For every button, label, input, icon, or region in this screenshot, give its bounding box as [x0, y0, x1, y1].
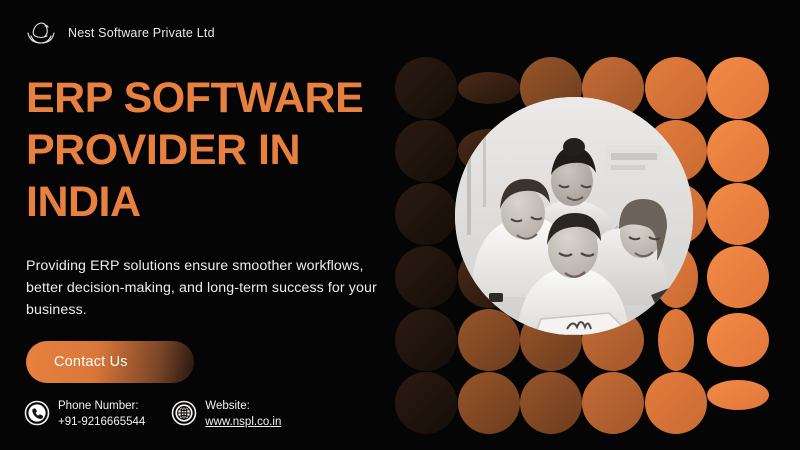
- website-text: Website: www.nspl.co.in: [205, 398, 281, 430]
- contact-footer: Phone Number: +91-9216665544 Website:: [24, 398, 281, 430]
- phone-icon: [24, 400, 50, 426]
- website-label: Website:: [205, 400, 250, 412]
- brand-logo[interactable]: Nest Software Private Ltd: [24, 19, 215, 47]
- nest-bird-logo-icon: [24, 19, 58, 47]
- phone-contact[interactable]: Phone Number: +91-9216665544: [24, 398, 145, 430]
- phone-text: Phone Number: +91-9216665544: [58, 398, 145, 430]
- phone-value: +91-9216665544: [58, 414, 145, 430]
- page-title: ERP Software Provider in India: [26, 72, 426, 228]
- website-contact[interactable]: Website: www.nspl.co.in: [171, 398, 281, 430]
- website-value[interactable]: www.nspl.co.in: [205, 414, 281, 430]
- contact-us-button[interactable]: Contact Us: [26, 341, 194, 383]
- brand-name: Nest Software Private Ltd: [68, 26, 215, 40]
- team-photo: [455, 97, 693, 335]
- globe-icon: [171, 400, 197, 426]
- hero-description: Providing ERP solutions ensure smoother …: [26, 255, 386, 321]
- phone-label: Phone Number:: [58, 400, 139, 412]
- marketing-banner: Nest Software Private Ltd ERP Software P…: [0, 0, 800, 450]
